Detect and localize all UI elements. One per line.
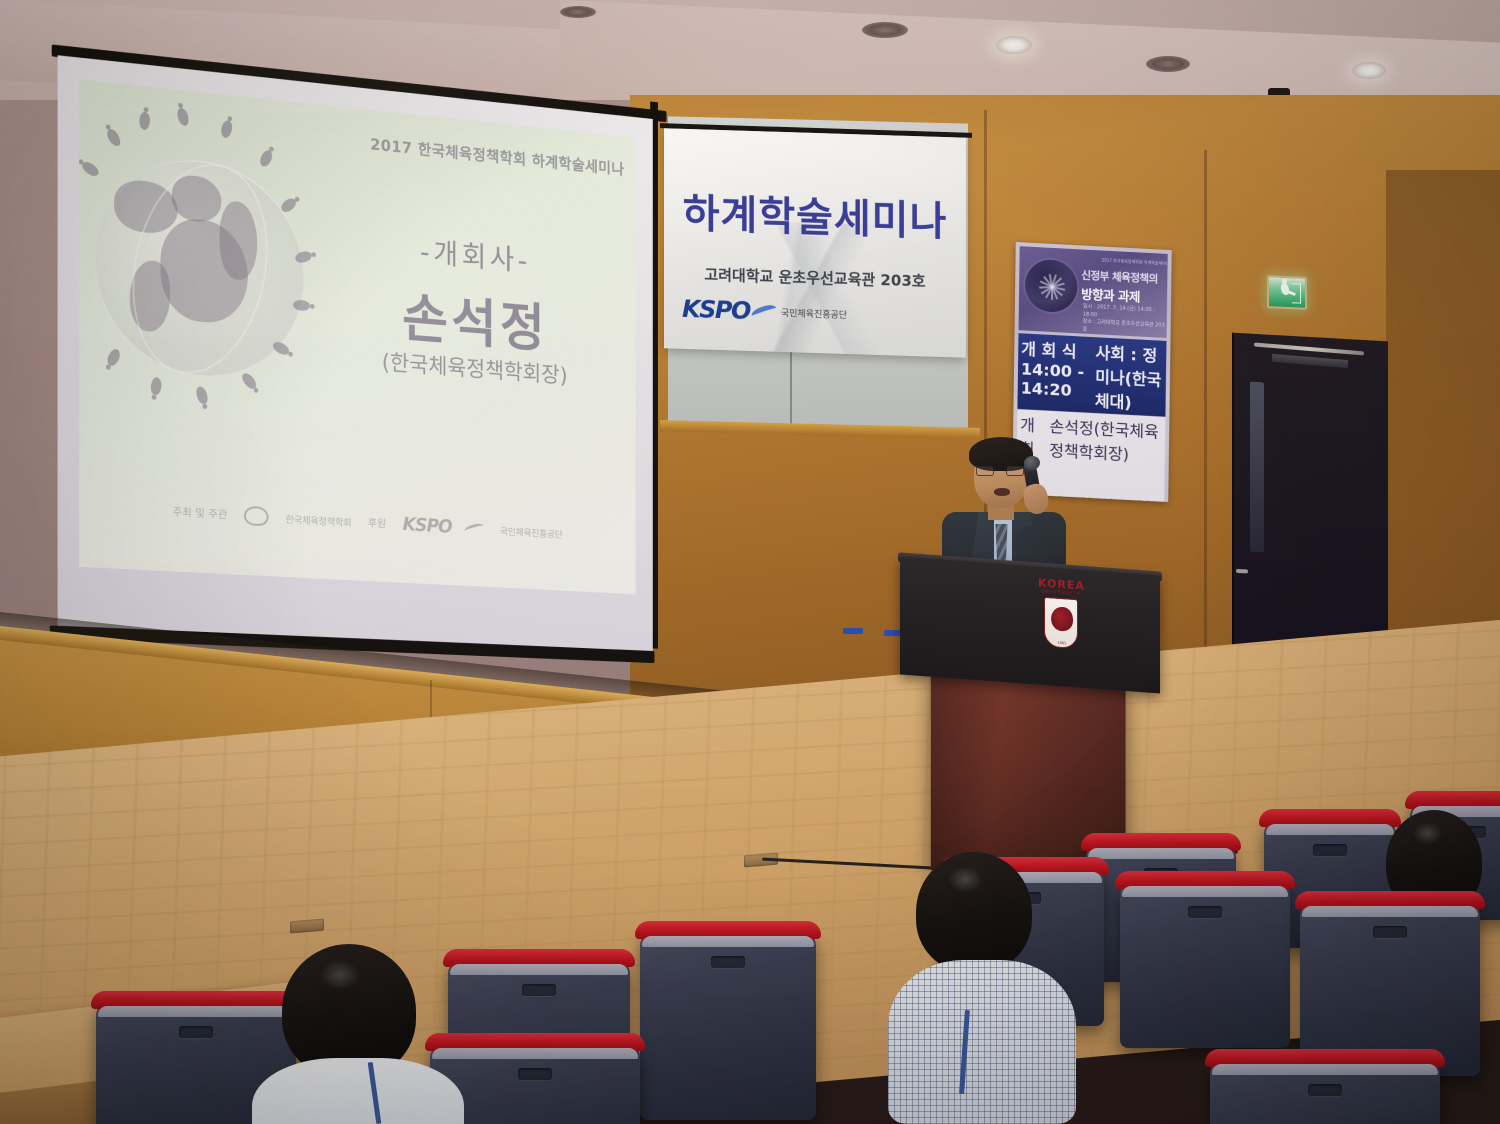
ceiling-downlight-off-1	[862, 22, 908, 38]
banner-title-text: 하계학술세미나	[664, 180, 966, 247]
audience-shoulders-white-shirt	[252, 1058, 464, 1124]
slide-sponsor-org-kr: 국민체육진흥공단	[500, 523, 563, 541]
athlete-silhouette-4	[219, 119, 235, 140]
athlete-silhouette-11	[195, 386, 208, 405]
seminar-banner: 하계학술세미나 고려대학교 운초우선교육관 203호 KSPO 국민체육진흥공단	[664, 128, 966, 357]
seat-row1-3[interactable]	[1210, 1058, 1440, 1124]
speaker-eyeglasses	[976, 466, 1026, 476]
running-man-icon	[1280, 283, 1290, 296]
poster-schedule-chair: 사회 : 정미나(한국체대)	[1095, 339, 1164, 415]
banner-kspo-logo: KSPO 국민체육진흥공단	[682, 295, 847, 328]
kspo-swoosh-icon	[464, 522, 485, 535]
athlete-silhouette-10	[240, 371, 258, 392]
audience-shoulders-checked-shirt	[888, 960, 1076, 1124]
tiger-emblem-icon	[1049, 606, 1074, 631]
athlete-silhouette-12	[149, 376, 164, 396]
projection-screen: 2017 한국체육정책학회 하계학술세미나 -개회사- 손석정 (한국체육정책학…	[32, 38, 639, 649]
presentation-slide: 2017 한국체육정책학회 하계학술세미나 -개회사- 손석정 (한국체육정책학…	[79, 79, 636, 594]
slide-host-label: 주최 및 주관	[173, 504, 228, 523]
crest-year: 1905	[1045, 640, 1079, 646]
ceiling-downlight-off-3	[560, 6, 596, 18]
podium-lectern	[900, 556, 1160, 693]
kspo-swoosh-icon	[750, 302, 778, 321]
speaker-mouth	[994, 488, 1010, 496]
emergency-exit-sign	[1267, 275, 1307, 310]
slide-footer-logos: 주최 및 주관 한국체육정책학회 후원 KSPO 국민체육진흥공단	[147, 499, 586, 545]
athlete-silhouette-3	[177, 108, 190, 126]
poster-place: 장소 : 고려대학교 운초우선교육관 203호	[1083, 319, 1168, 338]
korea-university-crest: KOREA UNIVERSITY 1905	[1038, 576, 1084, 657]
athlete-silhouette-5	[257, 148, 275, 168]
slide-host-org: 한국체육정책학회	[285, 510, 351, 528]
slide-sponsor-label: 후원	[368, 515, 386, 531]
athlete-silhouette-1	[105, 127, 122, 147]
banner-kspo-wordmark: KSPO	[682, 295, 750, 325]
door-push-bar[interactable]	[1254, 342, 1364, 355]
poster-overline-text: 2017 한국체육정책학회 하계학술세미나	[1078, 256, 1168, 267]
athlete-silhouette-9	[271, 339, 291, 358]
athlete-silhouette-14	[80, 159, 100, 179]
poster-hero: 2017 한국체육정책학회 하계학술세미나 신정부 체육정책의 방향과 과제 일…	[1019, 246, 1168, 338]
door-vision-panel	[1250, 382, 1264, 553]
slide-sponsor-org: KSPO	[403, 514, 452, 538]
poster-ray-burst	[1021, 254, 1084, 319]
crest-shield: 1905	[1044, 597, 1078, 649]
poster-schedule-header-0: 개 회 식 14:00 - 14:20사회 : 정미나(한국체대)	[1017, 333, 1166, 417]
athlete-silhouette-2	[138, 111, 152, 131]
athlete-silhouette-13	[104, 347, 123, 368]
host-org-logo-icon	[244, 506, 268, 527]
banner-kspo-korean: 국민체육진흥공단	[781, 305, 847, 320]
seat-row2-2[interactable]	[1120, 880, 1290, 1048]
audience-head-center	[916, 852, 1032, 972]
poster-meta: 일시 : 2017. 7. 14.(금) 14:00 - 18:00 장소 : …	[1083, 304, 1168, 338]
slide-header-text: 2017 한국체육정책학회 하계학술세미나	[284, 122, 624, 179]
auditorium-photo: 2017 한국체육정책학회 하계학술세미나 -개회사- 손석정 (한국체육정책학…	[0, 0, 1500, 1124]
ceiling-downlight-on-2	[1352, 62, 1386, 79]
ceiling-downlight-off-2	[1146, 56, 1190, 72]
whiteboard-marker-blue-1[interactable]	[843, 628, 863, 634]
poster-schedule-label: 개 회 식 14:00 - 14:20	[1020, 335, 1095, 411]
ceiling-downlight-on-1	[996, 36, 1032, 54]
door-closer-plate	[1272, 354, 1348, 368]
screen-surface: 2017 한국체육정책학회 하계학술세미나 -개회사- 손석정 (한국체육정책학…	[58, 55, 653, 658]
exit-door-glyph-icon	[1292, 283, 1301, 303]
seat-row2-4[interactable]	[640, 930, 816, 1120]
door-handle[interactable]	[1236, 569, 1248, 574]
